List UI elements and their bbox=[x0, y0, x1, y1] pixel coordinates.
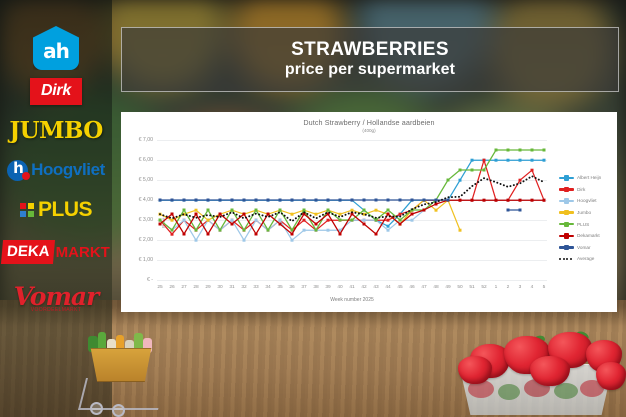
chart-legend: Albert HeijnDirkHoogvlietJumboPLUSDekama… bbox=[559, 172, 615, 265]
x-axis-tick: 44 bbox=[385, 285, 390, 290]
plus-icon bbox=[20, 203, 34, 217]
y-axis-tick: € 2,00 bbox=[139, 237, 153, 243]
legend-item-vomar[interactable]: Vomar bbox=[559, 242, 615, 254]
dirk-label: Dirk bbox=[30, 78, 82, 105]
strawberry bbox=[458, 356, 492, 384]
x-axis-tick: 28 bbox=[193, 285, 198, 290]
x-axis-tick: 33 bbox=[253, 285, 258, 290]
logo-dirk: Dirk bbox=[0, 78, 112, 112]
x-axis-tick: 25 bbox=[157, 285, 162, 290]
legend-swatch bbox=[559, 211, 574, 213]
legend-swatch bbox=[559, 188, 574, 190]
y-axis-tick: € - bbox=[147, 277, 153, 283]
x-axis-tick: 34 bbox=[265, 285, 270, 290]
banner-subtitle: price per supermarket bbox=[285, 61, 455, 80]
x-axis-tick: 35 bbox=[277, 285, 282, 290]
legend-item-dirk[interactable]: Dirk bbox=[559, 184, 615, 196]
x-axis-tick: 5 bbox=[543, 285, 546, 290]
legend-swatch bbox=[559, 246, 574, 248]
logo-albert-heijn: ah bbox=[0, 26, 112, 78]
x-axis-tick: 1 bbox=[495, 285, 498, 290]
x-axis-tick: 27 bbox=[181, 285, 186, 290]
strawberry bbox=[530, 356, 570, 386]
chart-title: Dutch Strawberry / Hollandse aardbeien bbox=[121, 118, 617, 127]
dekamarkt-label: MARKT bbox=[54, 244, 110, 261]
dekamarkt-box-label: DEKA bbox=[1, 240, 55, 264]
shopping-cart-photo bbox=[78, 322, 174, 412]
legend-label: PLUS bbox=[577, 222, 589, 227]
y-axis-tick: € 3,00 bbox=[139, 217, 153, 223]
legend-label: Jumbo bbox=[577, 210, 591, 215]
hoogvliet-icon bbox=[7, 160, 28, 181]
x-axis-tick: 32 bbox=[241, 285, 246, 290]
chart-subtitle: (400g) bbox=[121, 128, 617, 133]
x-axis-tick: 2 bbox=[507, 285, 510, 290]
legend-swatch bbox=[559, 177, 574, 179]
strawberry-punnet-photo bbox=[448, 318, 626, 417]
strawberry bbox=[596, 362, 626, 390]
albert-heijn-label: ah bbox=[33, 39, 79, 63]
legend-item-albert-heijn[interactable]: Albert Heijn bbox=[559, 172, 615, 184]
jumbo-label: JUMBO bbox=[9, 117, 102, 144]
x-axis-tick: 30 bbox=[217, 285, 222, 290]
x-axis-tick: 50 bbox=[457, 285, 462, 290]
y-axis-tick: € 5,00 bbox=[139, 177, 153, 183]
legend-item-dekamarkt[interactable]: Dekamarkt bbox=[559, 230, 615, 242]
legend-swatch bbox=[559, 235, 574, 237]
legend-label: Vomar bbox=[577, 245, 591, 250]
gridline bbox=[157, 280, 547, 281]
y-axis-tick: € 4,00 bbox=[139, 197, 153, 203]
legend-item-hoogvliet[interactable]: Hoogvliet bbox=[559, 195, 615, 207]
legend-label: Hoogvliet bbox=[577, 198, 597, 203]
x-axis-tick: 42 bbox=[361, 285, 366, 290]
x-axis-tick: 31 bbox=[229, 285, 234, 290]
logo-hoogvliet: Hoogvliet bbox=[0, 155, 112, 185]
chart-plot-area: Price € -€ 1,00€ 2,00€ 3,00€ 4,00€ 5,00€… bbox=[157, 140, 547, 280]
x-axis-tick: 46 bbox=[409, 285, 414, 290]
legend-swatch bbox=[559, 200, 574, 202]
x-axis-tick: 40 bbox=[337, 285, 342, 290]
logo-dekamarkt: DEKA MARKT bbox=[0, 236, 112, 268]
albert-heijn-icon: ah bbox=[33, 26, 79, 70]
logo-vomar: Vomar VOORDEELMARKT bbox=[0, 282, 112, 318]
x-axis-label: Week number 2025 bbox=[157, 297, 547, 303]
legend-label: Dirk bbox=[577, 187, 585, 192]
logo-plus: PLUS bbox=[0, 196, 112, 224]
cart-wheel bbox=[112, 404, 125, 417]
chart-panel: Dutch Strawberry / Hollandse aardbeien (… bbox=[121, 112, 617, 312]
x-axis-tick: 36 bbox=[289, 285, 294, 290]
legend-item-plus[interactable]: PLUS bbox=[559, 218, 615, 230]
cart-wheel bbox=[90, 402, 103, 415]
legend-swatch bbox=[559, 223, 574, 225]
legend-label: Albert Heijn bbox=[577, 175, 601, 180]
x-axis-tick: 39 bbox=[325, 285, 330, 290]
cart-basket bbox=[88, 348, 154, 382]
x-axis-tick: 3 bbox=[519, 285, 522, 290]
x-axis-tick: 49 bbox=[445, 285, 450, 290]
legend-swatch-dotted bbox=[559, 257, 574, 261]
screenshot-root: ah Dirk JUMBO Hoogvliet PLUS DEKA MARKT … bbox=[0, 0, 626, 417]
series-albert-heijn bbox=[159, 159, 546, 228]
x-axis-tick: 51 bbox=[469, 285, 474, 290]
x-axis-tick: 37 bbox=[301, 285, 306, 290]
banner-title: STRAWBERRIES bbox=[291, 39, 449, 60]
logo-jumbo: JUMBO bbox=[0, 117, 112, 143]
x-axis-tick: 41 bbox=[349, 285, 354, 290]
plus-label: PLUS bbox=[38, 198, 92, 222]
legend-label: Dekamarkt bbox=[577, 233, 600, 238]
x-axis-tick: 48 bbox=[433, 285, 438, 290]
chart-series-layer bbox=[157, 140, 547, 280]
x-axis-tick: 43 bbox=[373, 285, 378, 290]
y-axis-tick: € 6,00 bbox=[139, 157, 153, 163]
y-axis-tick: € 1,00 bbox=[139, 257, 153, 263]
x-axis-tick: 26 bbox=[169, 285, 174, 290]
hoogvliet-label: Hoogvliet bbox=[31, 160, 105, 180]
x-axis-tick: 4 bbox=[531, 285, 534, 290]
x-axis-tick: 47 bbox=[421, 285, 426, 290]
legend-item-jumbo[interactable]: Jumbo bbox=[559, 207, 615, 219]
legend-label: Average bbox=[577, 256, 594, 261]
x-axis-tick: 52 bbox=[481, 285, 486, 290]
x-axis-tick: 29 bbox=[205, 285, 210, 290]
x-axis-tick: 38 bbox=[313, 285, 318, 290]
legend-item-average[interactable]: Average bbox=[559, 253, 615, 265]
title-banner: STRAWBERRIES price per supermarket bbox=[121, 27, 619, 92]
x-axis-tick: 45 bbox=[397, 285, 402, 290]
y-axis-tick: € 7,00 bbox=[139, 137, 153, 143]
